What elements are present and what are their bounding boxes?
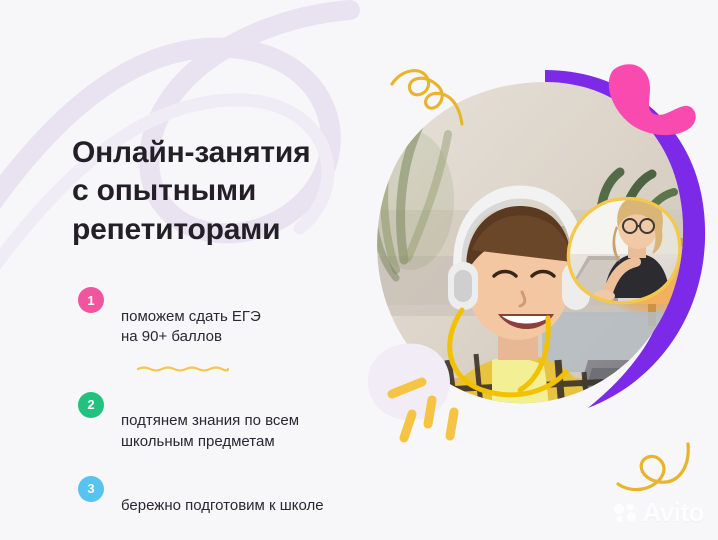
avito-wordmark: Avito	[642, 497, 704, 528]
benefit-label-3: бережно подготовим к школе	[121, 475, 324, 516]
bullet-number-3: 3	[78, 476, 104, 502]
wavy-underline-icon	[137, 365, 229, 372]
bullet-number-1: 1	[78, 287, 104, 313]
yellow-loop-squiggle-bottom	[612, 438, 700, 496]
list-item: 2 подтянем знания по всем школьным предм…	[78, 391, 388, 453]
avito-logo-icon	[613, 502, 637, 524]
benefit-text-2: подтянем знания по всем школьным предмет…	[121, 412, 299, 450]
pink-bean-decoration	[598, 58, 700, 138]
page-title: Онлайн-занятия с опытными репетиторами	[72, 134, 372, 249]
list-item: 1 поможем сдать ЕГЭ на 90+ баллов	[78, 286, 388, 369]
list-item: 3 бережно подготовим к школе	[78, 475, 388, 516]
benefit-text-1: поможем сдать ЕГЭ на 90+ баллов	[121, 308, 261, 346]
avito-watermark: Avito	[613, 497, 704, 528]
bullet-number-2: 2	[78, 392, 104, 418]
yellow-burst-decoration	[358, 338, 476, 446]
benefit-text-3: бережно подготовим к школе	[121, 497, 324, 514]
benefit-label-1: поможем сдать ЕГЭ на 90+ баллов	[121, 286, 261, 369]
promo-banner: Онлайн-занятия с опытными репетиторами 1…	[0, 0, 718, 540]
benefit-list: 1 поможем сдать ЕГЭ на 90+ баллов 2 подт…	[78, 286, 388, 516]
yellow-spiral-squiggle-top	[388, 62, 474, 128]
benefit-label-2: подтянем знания по всем школьным предмет…	[121, 391, 299, 453]
